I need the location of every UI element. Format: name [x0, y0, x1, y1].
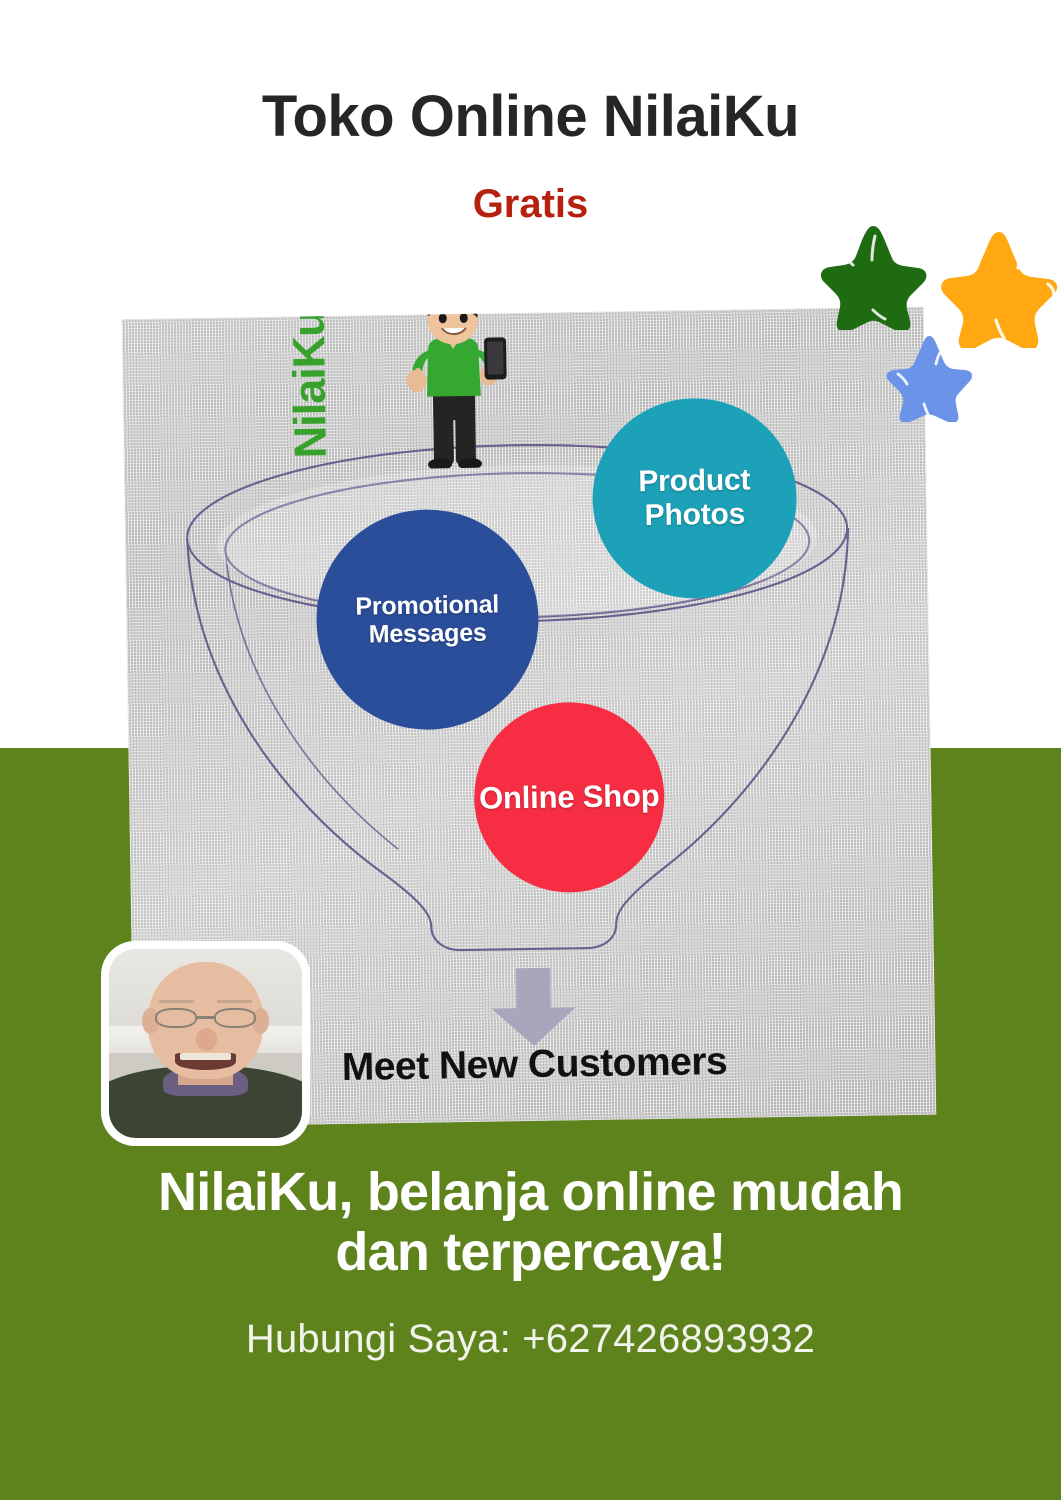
contact-info: Hubungi Saya: +627426893932: [0, 1283, 1061, 1362]
avatar: [101, 941, 310, 1146]
star-blue-icon: [884, 332, 974, 422]
page-subtitle: Gratis: [0, 146, 1061, 224]
bubble-promotional-messages-label: Promotional Messages: [316, 590, 539, 649]
avatar-image: [109, 949, 302, 1138]
header: Toko Online NilaiKu Gratis: [0, 0, 1061, 260]
tagline-line-1: NilaiKu, belanja online mudah: [0, 1162, 1061, 1222]
star-green-icon: [818, 222, 928, 330]
nilaiku-logo-text: NilaiKu: [282, 307, 337, 470]
down-arrow-icon: [487, 967, 580, 1046]
bubble-online-shop-label: Online Shop: [479, 779, 660, 817]
nilaiku-logo: NilaiKu: [272, 307, 555, 482]
footer: NilaiKu, belanja online mudah dan terper…: [0, 1162, 1061, 1362]
tagline-line-2: dan terpercaya!: [0, 1222, 1061, 1282]
star-orange-icon: [938, 228, 1060, 348]
bubble-product-photos-label: Product Photos: [592, 463, 797, 533]
page-title: Toko Online NilaiKu: [0, 0, 1061, 146]
mascot-man-with-phone-icon: [387, 307, 520, 469]
